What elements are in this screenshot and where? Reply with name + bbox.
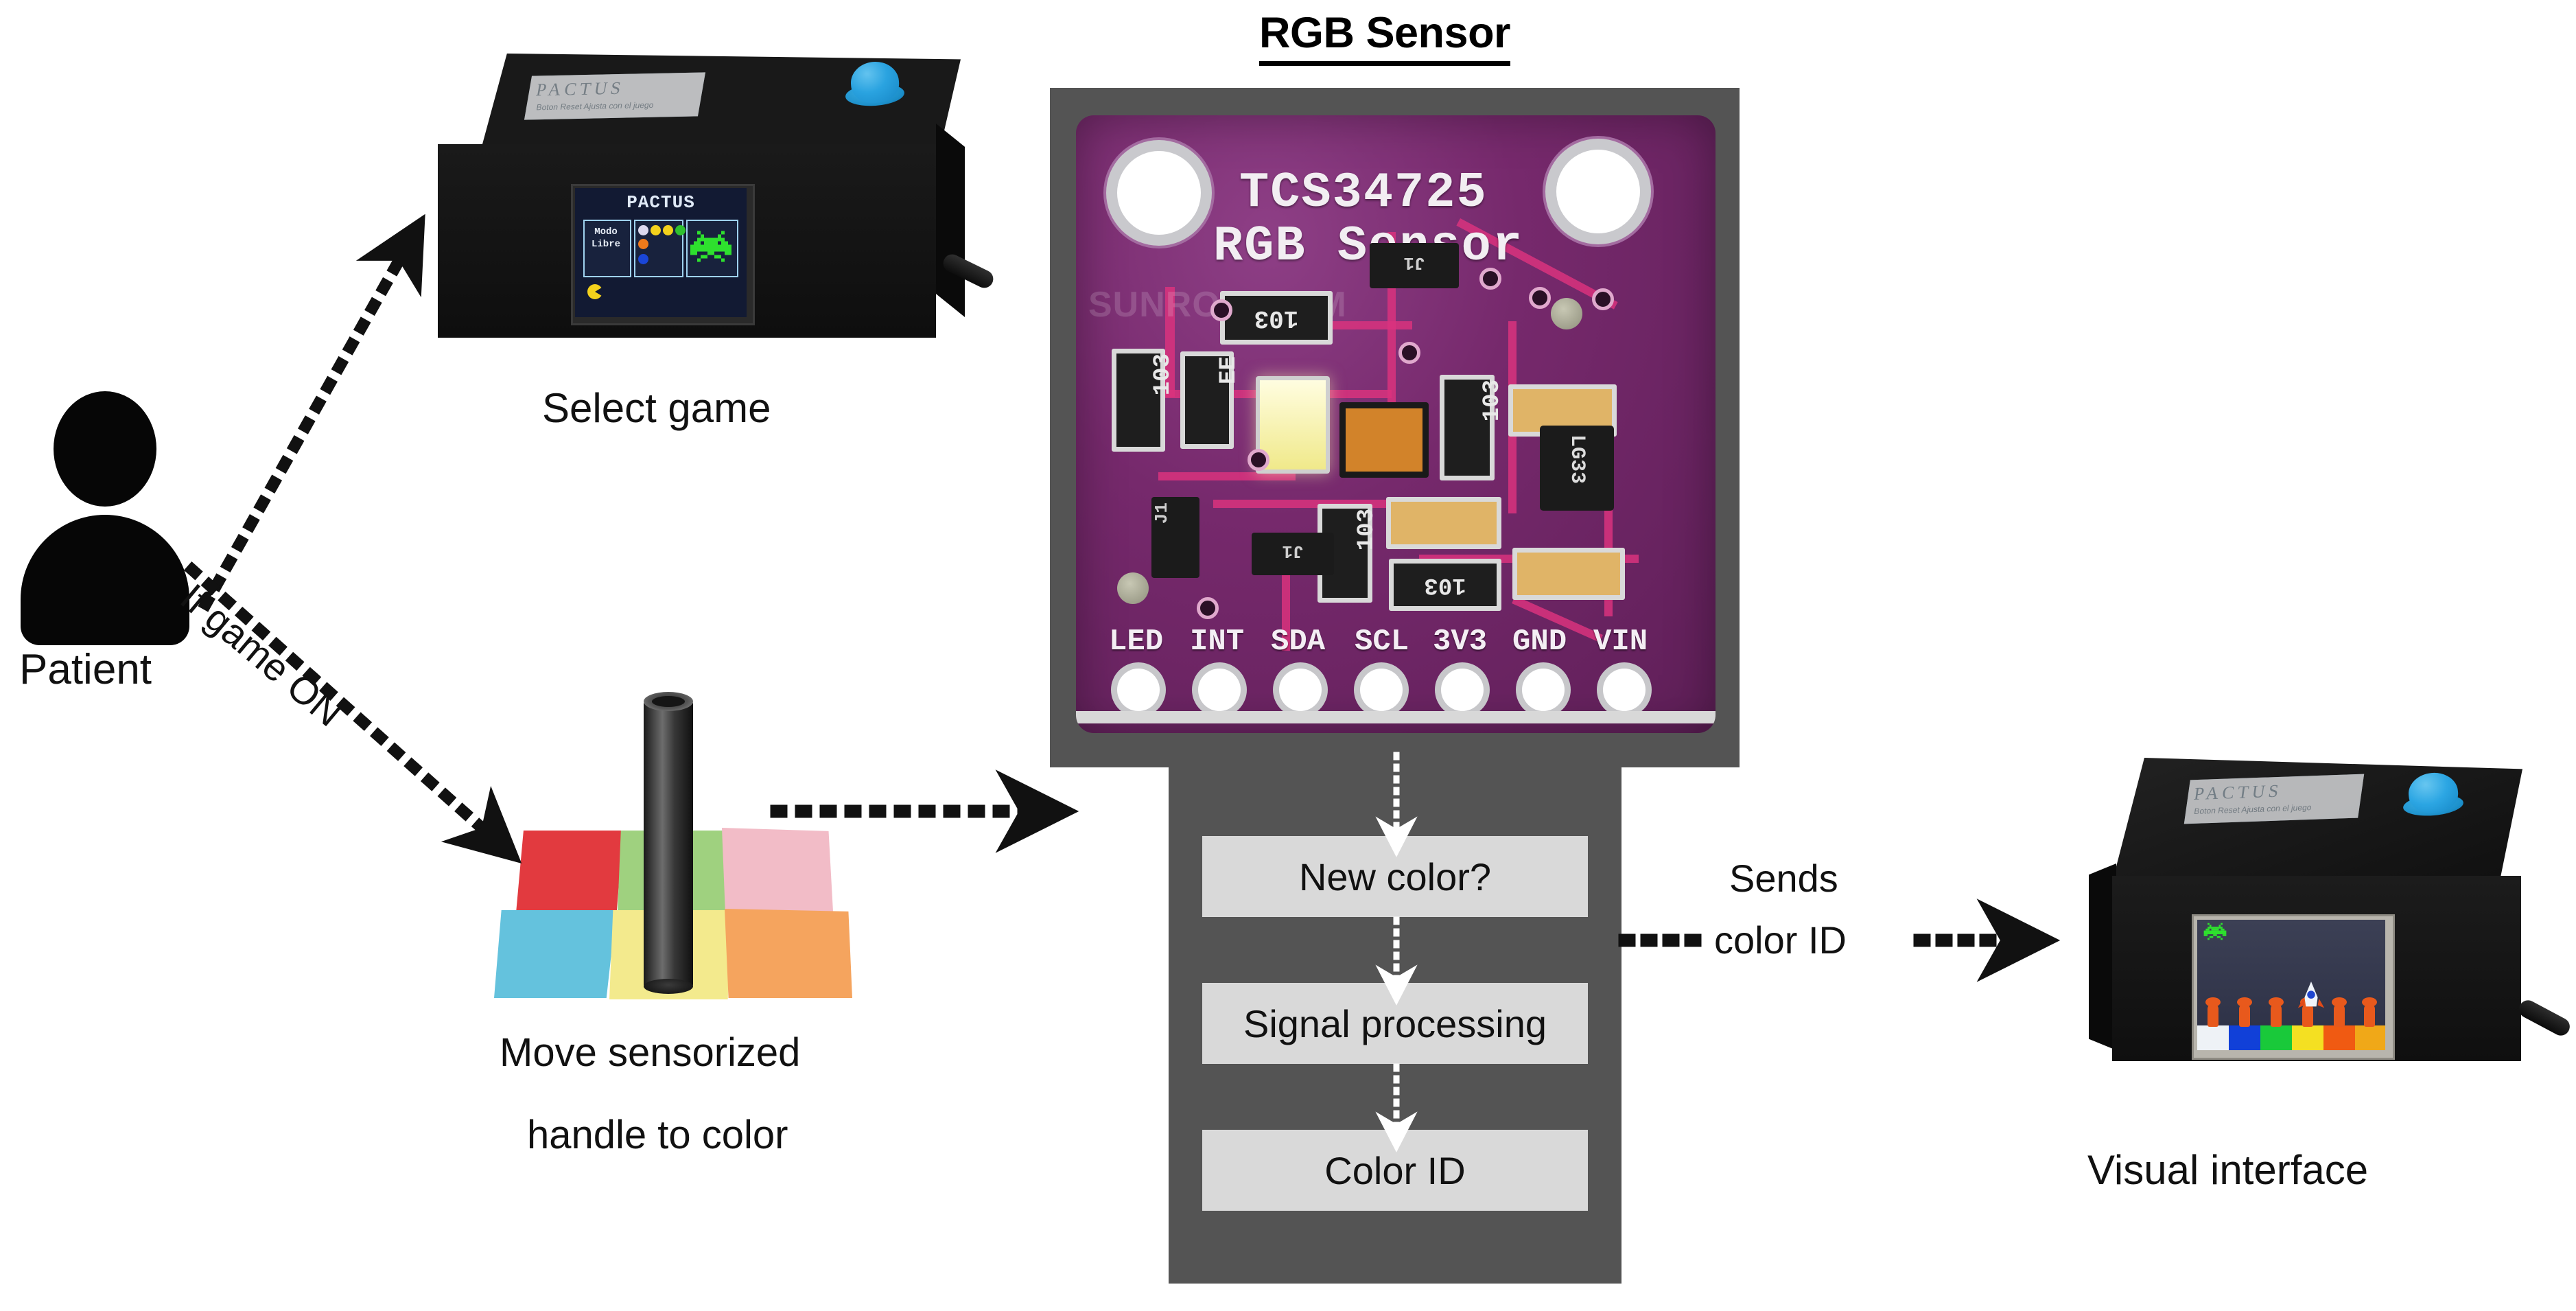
pcb-resistor-103-a: 103 <box>1220 291 1333 345</box>
pin-hole-gnd[interactable] <box>1522 669 1565 711</box>
pin-label-scl: SCL <box>1355 625 1409 659</box>
tcs34725-pcb: TCS34725 RGB Sensor SUNROM.COM 103 103 E… <box>1076 115 1716 733</box>
pin-hole-scl[interactable] <box>1360 669 1403 711</box>
pin-hole-led[interactable] <box>1117 669 1160 711</box>
pin-label-gnd: GND <box>1512 625 1567 659</box>
menu-dot-yellow-1 <box>651 225 661 235</box>
color-mat-group[interactable] <box>480 782 920 1057</box>
pin-hole-3v3[interactable] <box>1441 669 1484 711</box>
pcb-capacitor-c <box>1512 548 1625 600</box>
pcb-screw-pad-right <box>1551 298 1582 329</box>
pin-label-3v3: 3V3 <box>1433 625 1487 659</box>
pin-hole-int[interactable] <box>1198 669 1241 711</box>
move-handle-label-line2: handle to color <box>527 1112 788 1158</box>
mat-tile-red[interactable] <box>516 831 623 913</box>
device1-screen[interactable]: PACTUS Modo Libre <box>575 188 747 317</box>
color-band-amber <box>2355 1025 2385 1050</box>
game-pawn <box>2271 1003 2282 1027</box>
select-game-label: Select game <box>542 384 771 432</box>
mat-tile-pink[interactable] <box>722 828 833 912</box>
pcb-part-number: TCS34725 <box>1239 165 1488 222</box>
menu-dot-green <box>675 225 686 235</box>
pcb-transistor-c: J1 <box>1252 533 1334 575</box>
pcb-via <box>1479 268 1501 290</box>
handle-bore <box>652 696 685 707</box>
device2-knob[interactable] <box>2516 997 2573 1039</box>
if-game-on-label: If game ON <box>172 575 351 736</box>
color-band-orange <box>2323 1025 2355 1050</box>
arrow-patient-to-select-game <box>206 253 403 604</box>
pcb-transistor-marking: J1 <box>1370 253 1459 273</box>
pcb-via <box>1529 287 1551 309</box>
pcb-via <box>1592 288 1614 310</box>
game-pawn <box>2239 1003 2250 1027</box>
menu-card-1-line1: Modo <box>585 227 627 237</box>
pcb-via <box>1210 299 1232 321</box>
pin-label-vin: VIN <box>1593 625 1648 659</box>
game-pawn <box>2334 1003 2345 1027</box>
menu-dot-yellow-2 <box>663 225 673 235</box>
pcb-resistor-marking: 103 <box>1394 564 1497 606</box>
pcb-transistor-marking: J1 <box>1151 502 1172 524</box>
pcb-bottom-edge <box>1076 711 1716 723</box>
pcb-resistor-103-b: 103 <box>1112 349 1165 452</box>
mat-tile-cyan[interactable] <box>494 910 616 998</box>
pcb-mount-hole-right <box>1556 150 1640 233</box>
pcb-resistor-103-e: 103 <box>1389 559 1501 611</box>
pcb-capacitor-b <box>1386 497 1501 549</box>
sends-color-id-label-line1: Sends <box>1729 857 1838 901</box>
pcb-via <box>1248 449 1269 471</box>
patient-head-icon <box>54 391 156 507</box>
pcb-transistor-b: J1 <box>1151 497 1199 578</box>
pcb-screw-pad-left <box>1117 572 1149 604</box>
pacman-icon <box>587 284 602 299</box>
sensorized-handle[interactable] <box>644 700 693 988</box>
color-band-blue <box>2229 1025 2260 1050</box>
device1-screen-title: PACTUS <box>575 192 747 213</box>
pin-hole-vin[interactable] <box>1603 669 1646 711</box>
patient-label: Patient <box>19 645 152 695</box>
spaceship-icon <box>2297 982 2325 1013</box>
pcb-regulator-marking: LG33 <box>1565 422 1589 496</box>
flow-step-signal-processing[interactable]: Signal processing <box>1202 983 1588 1064</box>
pcb-voltage-regulator: LG33 <box>1540 426 1614 511</box>
pcb-subtitle: RGB Sensor <box>1213 218 1523 276</box>
pcb-via <box>1197 597 1219 619</box>
menu-dot-orange <box>638 239 648 249</box>
space-invader-icon <box>690 227 731 266</box>
patient-avatar <box>21 391 206 604</box>
color-band-white <box>2197 1025 2229 1050</box>
patient-body-icon <box>21 515 189 645</box>
sends-color-id-label-line2: color ID <box>1714 918 1847 963</box>
pcb-sensor-chip <box>1339 402 1429 478</box>
game-pawn <box>2364 1003 2375 1027</box>
flow-step-new-color[interactable]: New color? <box>1202 836 1588 917</box>
game-pawn <box>2208 1003 2218 1027</box>
pcb-resistor-ee: EE <box>1180 351 1234 449</box>
mat-tile-orange[interactable] <box>725 909 852 998</box>
pcb-via <box>1398 342 1420 364</box>
pin-label-led: LED <box>1109 625 1163 659</box>
pin-label-sda: SDA <box>1271 625 1325 659</box>
pin-label-int: INT <box>1190 625 1244 659</box>
device1-tape-title: PACTUS <box>535 77 696 101</box>
handle-base <box>644 979 693 994</box>
pin-hole-sda[interactable] <box>1279 669 1322 711</box>
visual-interface-device[interactable]: PACTUS Boton Reset Ajusta con el juego <box>2045 748 2566 1133</box>
pcb-transistor-marking: J1 <box>1252 541 1334 561</box>
pcb-resistor-103-c: 103 <box>1440 375 1495 480</box>
menu-card-1-line2: Libre <box>585 239 627 250</box>
flow-step-color-id[interactable]: Color ID <box>1202 1130 1588 1211</box>
diagram-canvas: RGB Sensor Patient PACTUS Boton Reset Aj… <box>0 0 2576 1311</box>
pcb-resistor-marking: 103 <box>1225 296 1328 340</box>
space-invader-icon <box>2201 921 2229 942</box>
device1-right-face <box>936 124 965 317</box>
pcb-transistor-a: J1 <box>1370 243 1459 288</box>
move-handle-label-line1: Move sensorized <box>500 1030 800 1076</box>
color-band-yellow <box>2292 1025 2323 1050</box>
select-game-device[interactable]: PACTUS Boton Reset Ajusta con el juego P… <box>425 21 988 378</box>
menu-dot-blue <box>638 254 648 264</box>
color-band-green <box>2260 1025 2292 1050</box>
menu-dot-white <box>638 225 648 235</box>
visual-interface-label: Visual interface <box>2087 1146 2368 1194</box>
pcb-mount-hole-left <box>1117 151 1201 235</box>
rgb-sensor-title: RGB Sensor <box>1259 8 1510 66</box>
